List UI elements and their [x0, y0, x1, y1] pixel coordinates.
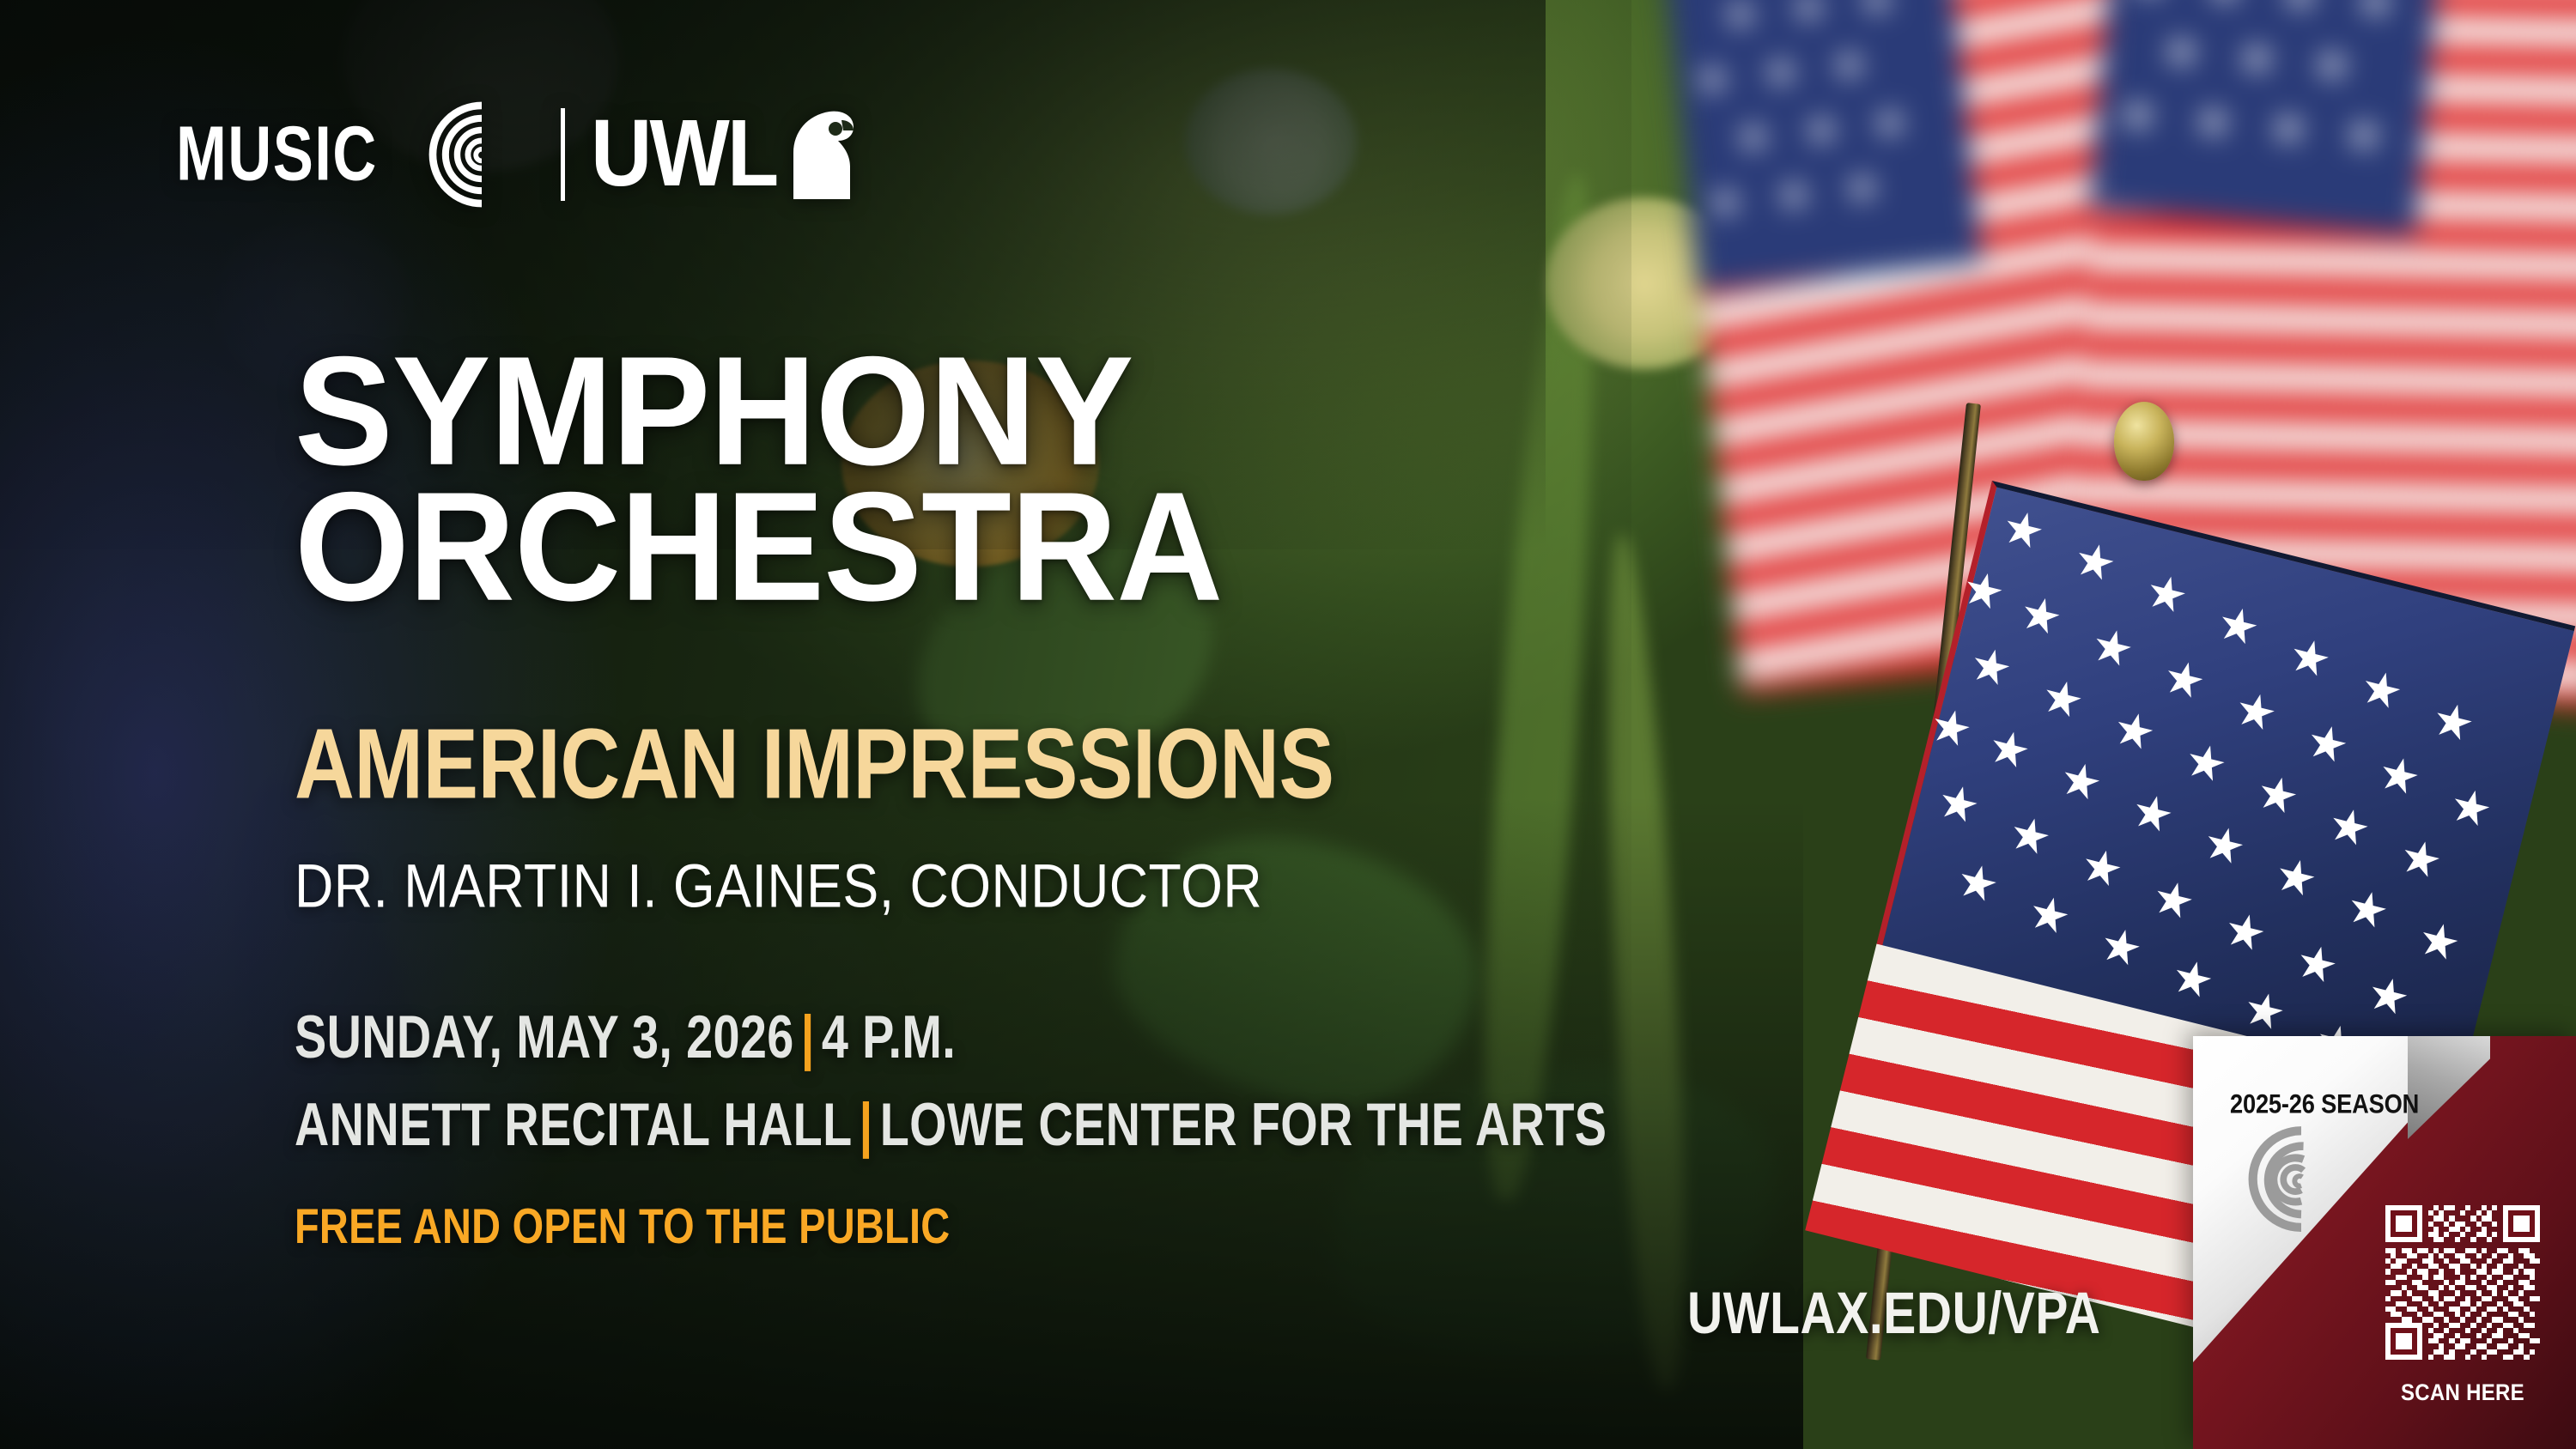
program-subtitle: AMERICAN IMPRESSIONS	[295, 714, 1334, 814]
eagle-icon	[781, 110, 855, 199]
separator-pipe: |	[853, 1091, 880, 1159]
spiral-icon	[428, 101, 535, 208]
conductor-credit: DR. MARTIN I. GAINES, CONDUCTOR	[295, 855, 1262, 916]
flag-canton: ★ ★ ★ ★ ★ ★ ★ ★ ★ ★ ★ ★ ★ ★ ★ ★ ★	[2090, 0, 2451, 236]
spiral-icon	[2246, 1120, 2356, 1249]
qr-code-icon[interactable]	[2385, 1205, 2540, 1360]
flag-stars: ★ ★ ★ ★ ★ ★ ★ ★ ★ ★ ★ ★ ★ ★ ★ ★ ★	[2090, 0, 2451, 236]
uwl-wordmark: UWL	[591, 114, 776, 196]
music-wordmark: MUSIC	[176, 120, 378, 190]
flag-canton: ★ ★ ★ ★ ★ ★ ★ ★ ★ ★ ★ ★ ★ ★ ★	[1661, 0, 1981, 291]
event-poster: ★ ★ ★ ★ ★ ★ ★ ★ ★ ★ ★ ★ ★ ★ ★	[0, 0, 2576, 1449]
venue-line: ANNETT RECITAL HALL|LOWE CENTER FOR THE …	[295, 1095, 1607, 1156]
venue-hall: ANNETT RECITAL HALL	[295, 1091, 853, 1159]
season-qr-badge[interactable]: 2025-26 SEASON	[2193, 1036, 2576, 1449]
separator-pipe: |	[794, 1003, 822, 1071]
season-label: 2025-26 SEASON	[2230, 1089, 2419, 1120]
page-title-line-2: ORCHESTRA	[295, 477, 1222, 617]
flag-stars: ★ ★ ★ ★ ★ ★ ★ ★ ★ ★ ★ ★ ★ ★ ★	[1661, 0, 1981, 291]
scan-here-label: SCAN HERE	[2389, 1379, 2537, 1406]
logo-divider	[561, 108, 565, 201]
page-peel-fold	[2408, 1036, 2490, 1139]
date-time-line: SUNDAY, MAY 3, 2026|4 P.M.	[295, 1008, 956, 1069]
uwl-logo: UWL	[591, 110, 855, 199]
admission-note: FREE AND OPEN TO THE PUBLIC	[295, 1202, 950, 1251]
event-time: 4 P.M.	[822, 1003, 956, 1071]
website-url[interactable]: UWLAX.EDU/VPA	[1687, 1285, 2100, 1343]
music-uwl-logo[interactable]: MUSIC UWL	[176, 101, 855, 208]
flag-finial-icon	[2114, 402, 2174, 481]
venue-building: LOWE CENTER FOR THE ARTS	[880, 1091, 1607, 1159]
event-date: SUNDAY, MAY 3, 2026	[295, 1003, 794, 1071]
